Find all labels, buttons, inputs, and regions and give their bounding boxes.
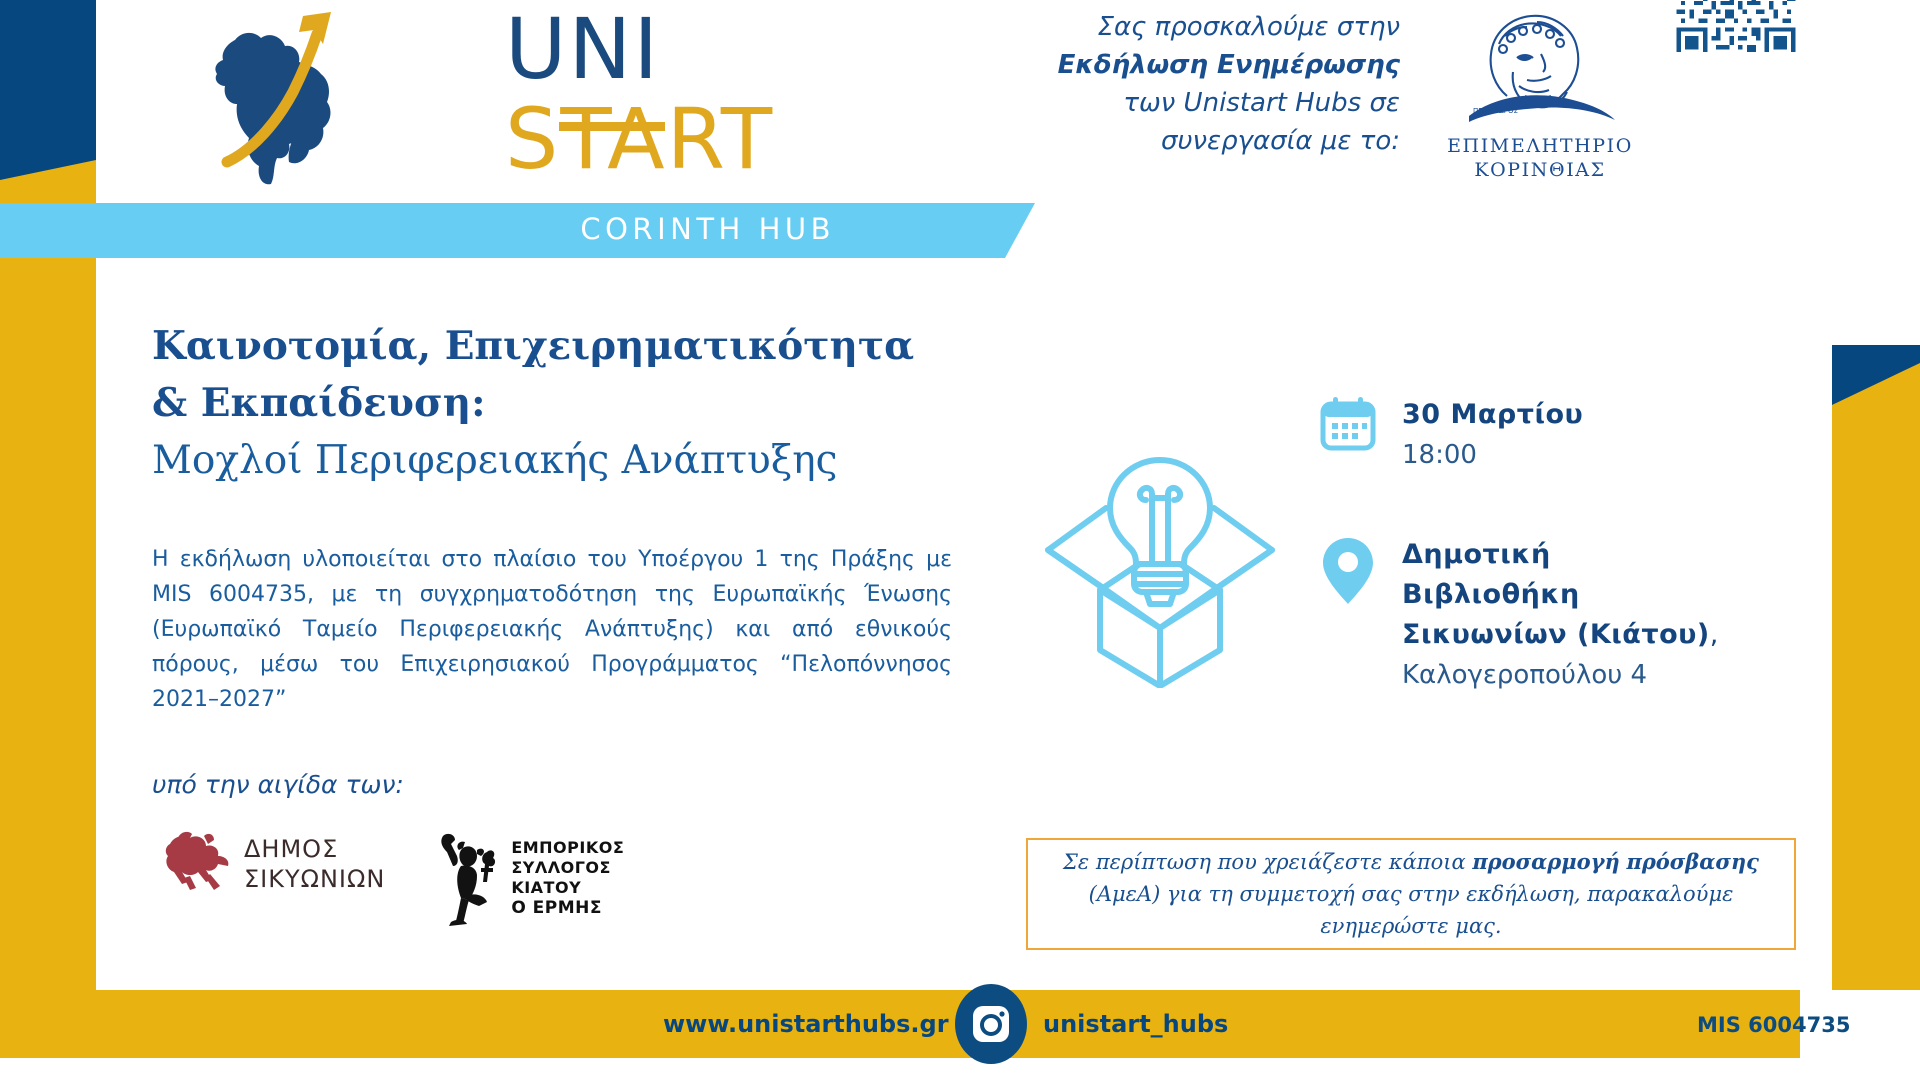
event-venue-row: Δημοτική Βιβλιοθήκη Σικυωνίων (Κιάτου), …	[1320, 535, 1800, 695]
partner-ermis-line-1: ΕΜΠΟΡΙΚΟΣ	[511, 838, 624, 858]
event-venue-body: Δημοτική Βιβλιοθήκη Σικυωνίων (Κιάτου), …	[1402, 535, 1719, 695]
venue-line-1: Δημοτική	[1402, 535, 1719, 575]
event-details: 30 Μαρτίου 18:00 Δημοτική Βιβλιοθήκη Σικ…	[1320, 395, 1800, 755]
venue-line-2: Βιβλιοθήκη	[1402, 575, 1719, 615]
mis-code: MIS 6004735	[1697, 1013, 1850, 1037]
qr-code[interactable]	[1672, 0, 1800, 52]
event-poster: UNI START CORINTH HUB Σας προσκαλούμε στ…	[0, 0, 1920, 1080]
instagram-icon-svg[interactable]	[969, 1002, 1013, 1046]
partner-ermis-line-3: ΚΙΑΤΟΥ	[511, 878, 624, 898]
invitation-line-2: Εκδήλωση Ενημέρωσης	[980, 46, 1400, 84]
partner-ermis: ΕΜΠΟΡΙΚΟΣ ΣΥΛΛΟΓΟΣ ΚΙΑΤΟΥ Ο ΕΡΜΗΣ	[431, 830, 624, 926]
lightbulb-in-box-illustration	[1040, 438, 1280, 692]
hermes-emblem-icon	[431, 830, 505, 926]
chamber-name-line-2: ΚΟΡΙΝΘΙΑΣ	[1425, 158, 1655, 182]
right-gold-bar	[1832, 345, 1920, 990]
lightbulb-box-svg	[1040, 438, 1280, 688]
accessibility-part-1: Σε περίπτωση που χρειάζεστε κάποια	[1063, 850, 1472, 874]
event-date-row: 30 Μαρτίου 18:00	[1320, 395, 1800, 475]
headline-line-1: Καινοτομία, Επιχειρηματικότητα	[152, 318, 982, 375]
event-time: 18:00	[1402, 435, 1583, 475]
partner-sikyonion-name: ΔΗΜΟΣ ΣΙΚΥΩΝΙΩΝ	[244, 834, 385, 894]
unistart-logo: UNI START	[175, 0, 795, 200]
chamber-logo: ΠΕΡΙΑΝΔΡΟΣ ΕΠΙΜΕΛΗΤΗΡΙΟ ΚΟΡΙΝΘΙΑΣ	[1425, 0, 1655, 182]
partner-ermis-name: ΕΜΠΟΡΙΚΟΣ ΣΥΛΛΟΓΟΣ ΚΙΑΤΟΥ Ο ΕΡΜΗΣ	[511, 838, 624, 918]
accessibility-part-2: (ΑμεΑ) για τη συμμετοχή σας στην εκδήλωσ…	[1089, 882, 1581, 906]
chamber-name: ΕΠΙΜΕΛΗΤΗΡΙΟ ΚΟΡΙΝΘΙΑΣ	[1425, 134, 1655, 182]
partner-sikyonion-line-2: ΣΙΚΥΩΝΙΩΝ	[244, 864, 385, 894]
venue-line-3-wrap: Σικυωνίων (Κιάτου),	[1402, 615, 1719, 655]
sikyonion-emblem-icon	[160, 830, 238, 898]
hub-banner: CORINTH HUB	[0, 203, 1035, 258]
event-date-body: 30 Μαρτίου 18:00	[1402, 395, 1583, 475]
instagram-handle[interactable]: unistart_hubs	[1043, 1010, 1228, 1038]
partner-logos: ΔΗΜΟΣ ΣΙΚΥΩΝΙΩΝ	[160, 830, 624, 926]
location-pin-icon-svg	[1320, 535, 1376, 607]
funding-paragraph: Η εκδήλωση υλοποιείται στο πλαίσιο του Υ…	[152, 542, 952, 717]
website-link[interactable]: www.unistarthubs.gr	[663, 1010, 949, 1038]
aegis-label: υπό την αιγίδα των:	[152, 770, 404, 799]
instagram-icon[interactable]	[955, 984, 1027, 1064]
invitation-line-4: συνεργασία με το:	[980, 122, 1400, 160]
partner-ermis-line-2: ΣΥΛΛΟΓΟΣ	[511, 858, 624, 878]
svg-text:UNI: UNI	[505, 0, 660, 98]
invitation-text: Σας προσκαλούμε στην Εκδήλωση Ενημέρωσης…	[980, 8, 1400, 160]
accessibility-bold-1: προσαρμογή	[1472, 849, 1619, 874]
qr-code-svg[interactable]	[1672, 0, 1800, 52]
headline-line-3: Μοχλοί Περιφερειακής Ανάπτυξης	[152, 432, 982, 490]
accessibility-notice: Σε περίπτωση που χρειάζεστε κάποια προσα…	[1026, 838, 1796, 950]
calendar-icon-svg	[1320, 395, 1376, 451]
venue-comma: ,	[1710, 619, 1719, 650]
unistart-logo-svg: UNI START	[175, 0, 795, 200]
calendar-icon	[1320, 395, 1376, 455]
accessibility-bold-2: πρόσβασης	[1626, 849, 1758, 874]
emblem-caption: ΠΕΡΙΑΝΔΡΟΣ	[1473, 107, 1518, 115]
periandros-bust-icon: ΠΕΡΙΑΝΔΡΟΣ	[1455, 0, 1625, 128]
venue-line-3: Σικυωνίων (Κιάτου)	[1402, 619, 1710, 650]
svg-text:START: START	[505, 90, 774, 188]
partner-sikyonion: ΔΗΜΟΣ ΣΙΚΥΩΝΙΩΝ	[160, 830, 385, 898]
chamber-name-line-1: ΕΠΙΜΕΛΗΤΗΡΙΟ	[1425, 134, 1655, 158]
location-pin-icon	[1320, 535, 1376, 611]
footer-bar: www.unistarthubs.gr unistart_hubs MIS 60…	[0, 990, 1920, 1058]
invitation-line-3: των Unistart Hubs σε	[980, 84, 1400, 122]
invitation-line-1: Σας προσκαλούμε στην	[980, 8, 1400, 46]
hub-banner-label: CORINTH HUB	[580, 212, 835, 246]
headline-line-2: & Εκπαίδευση:	[152, 375, 982, 432]
partner-sikyonion-line-1: ΔΗΜΟΣ	[244, 834, 385, 864]
page-title: Καινοτομία, Επιχειρηματικότητα & Εκπαίδε…	[152, 318, 982, 490]
event-date: 30 Μαρτίου	[1402, 395, 1583, 435]
venue-address: Καλογεροπούλου 4	[1402, 655, 1719, 695]
partner-ermis-line-4: Ο ΕΡΜΗΣ	[511, 898, 624, 918]
accessibility-text: Σε περίπτωση που χρειάζεστε κάποια προσα…	[1028, 846, 1794, 942]
